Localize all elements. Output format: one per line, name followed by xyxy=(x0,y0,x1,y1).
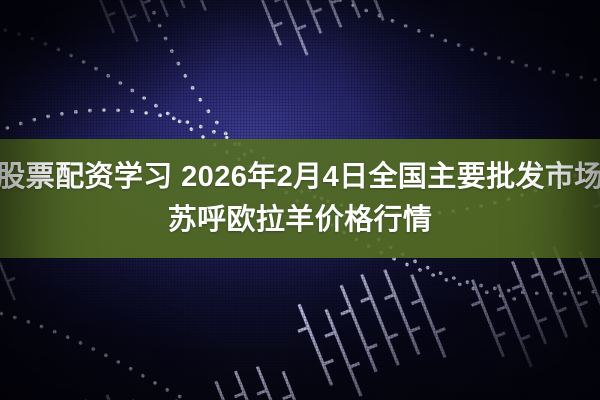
banner-image: 股票配资学习 2026年2月4日全国主要批发市场 苏呼欧拉羊价格行情 xyxy=(0,0,600,400)
banner-title-line-1: 股票配资学习 2026年2月4日全国主要批发市场 xyxy=(0,156,600,198)
banner-title-line-2: 苏呼欧拉羊价格行情 xyxy=(168,199,433,241)
title-band: 股票配资学习 2026年2月4日全国主要批发市场 苏呼欧拉羊价格行情 xyxy=(0,139,600,258)
